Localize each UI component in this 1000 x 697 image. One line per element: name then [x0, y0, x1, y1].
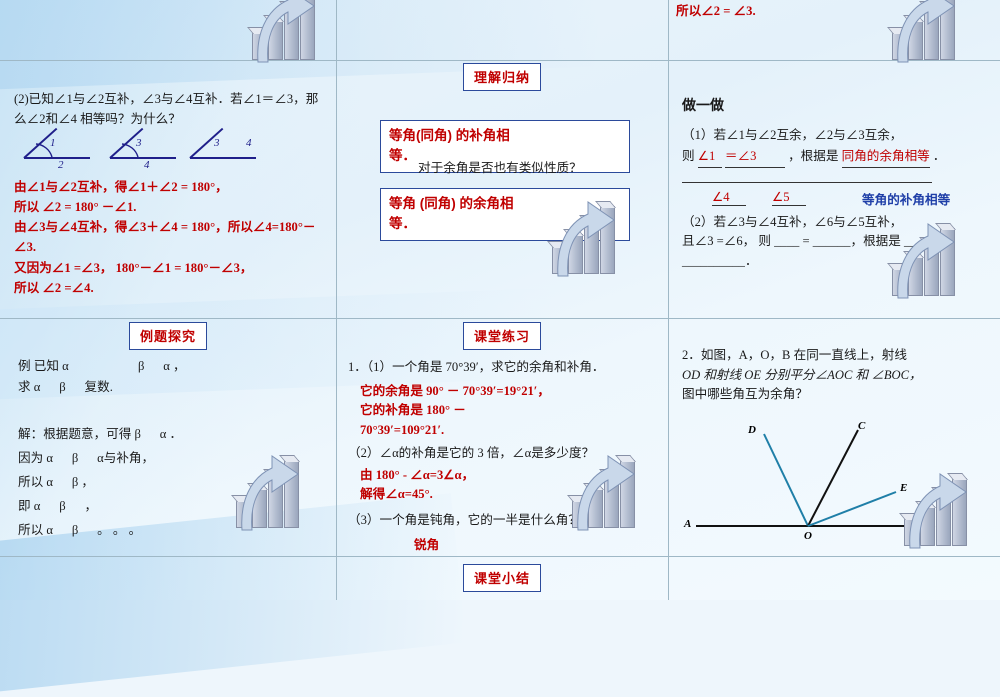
- proof-line-4: 又因为∠1 =∠3， 180°－∠1 = 180°－∠3，: [14, 258, 324, 278]
- do-it-q1-period: ．: [933, 149, 946, 163]
- do-it-q1-eq: ＝∠3: [725, 147, 785, 168]
- banner-understand: 理解归纳: [463, 63, 541, 91]
- practice-a1-line3: 70°39′=109°21′.: [360, 421, 648, 441]
- example-stem-line1: 例 已知 α β α ，: [18, 356, 318, 377]
- statement-supplementary-line1: 等角(同角) 的补角相: [389, 126, 621, 146]
- practice-a3: 锐角: [348, 536, 648, 556]
- do-it-hint-blank-2: ∠5: [772, 189, 806, 206]
- practice-a1-line2: 它的补角是 180° －: [360, 401, 648, 421]
- figure-label-O: O: [804, 530, 812, 542]
- bar-chart-clipart-figure: [900, 468, 996, 546]
- cell-figure-question: 2．如图，A，O，B 在同一直线上，射线 OD 和射线 OE 分别平分∠AOC …: [682, 346, 982, 405]
- figure-q-line1: 2．如图，A，O，B 在同一直线上，射线: [682, 346, 982, 366]
- figure-q-line3: 图中哪些角互为余角？: [682, 385, 982, 405]
- do-it-q1-blank1: ∠1: [698, 147, 722, 168]
- bar-chart-clipart-practice: [568, 450, 664, 528]
- figure-q-line2: OD 和射线 OE 分别平分∠AOC 和 ∠BOC，: [682, 366, 982, 386]
- question-2-text: (2)已知∠1与∠2互补，∠3与∠4互补．若∠1＝∠3，那么∠2和∠4 相等吗？…: [14, 90, 324, 129]
- banner-example-explore: 例题探究: [129, 322, 207, 350]
- do-it-blank-line-1: [682, 170, 932, 183]
- proof-line-1: 由∠1与∠2互补，得∠1＋∠2 = 180°，: [14, 177, 324, 197]
- practice-a1-line1: 它的余角是 90° － 70°39′=19°21′，: [360, 382, 648, 402]
- angle-figures: 1 2 3 4 3 4: [14, 135, 324, 175]
- proof-line-3: 由∠3与∠4互补，得∠3＋∠4 = 180°，所以∠4=180°－∠3.: [14, 217, 324, 257]
- bar-chart-clipart-middle: [548, 196, 644, 274]
- bar-chart-clipart-example: [232, 450, 328, 528]
- divider-col-2: [668, 0, 669, 600]
- banner-classroom-practice: 课堂练习: [463, 322, 541, 350]
- figure-label-D: D: [748, 424, 756, 436]
- bar-chart-clipart-top-1: [248, 0, 344, 60]
- practice-q1: 1．（1）一个角是 70°39′，求它的余角和补角．: [348, 358, 648, 378]
- figure-label-C: C: [858, 420, 865, 432]
- do-it-q1-answer: 同角的余角相等: [842, 147, 930, 168]
- banner-classroom-summary: 课堂小结: [463, 564, 541, 592]
- do-it-hint-blank-1: ∠4: [712, 189, 746, 206]
- do-it-q1: （1）若∠1与∠2互余，∠2与∠3互余，: [682, 126, 982, 146]
- do-it-title: 做一做: [682, 96, 982, 118]
- do-it-q1-then: 则: [682, 149, 695, 163]
- bar-chart-clipart-top-2: [888, 0, 984, 60]
- example-sol-1: 解：根据题意，可得 β α ．: [18, 423, 318, 447]
- middle-question: 对于余角是否也有类似性质？: [418, 159, 630, 179]
- proof-line-5: 所以 ∠2 =∠4.: [14, 278, 324, 298]
- cell-question-2: (2)已知∠1与∠2互补，∠3与∠4互补．若∠1＝∠3，那么∠2和∠4 相等吗？…: [14, 90, 324, 298]
- example-stem-line2: 求 α β 复数.: [18, 377, 318, 398]
- bar-chart-clipart-right: [888, 218, 984, 296]
- do-it-q1-basis: ，根据是: [788, 149, 838, 163]
- do-it-hint-right: 等角的补角相等: [862, 189, 950, 208]
- proof-line-2: 所以 ∠2 = 180° －∠1.: [14, 197, 324, 217]
- figure-label-A: A: [684, 518, 691, 530]
